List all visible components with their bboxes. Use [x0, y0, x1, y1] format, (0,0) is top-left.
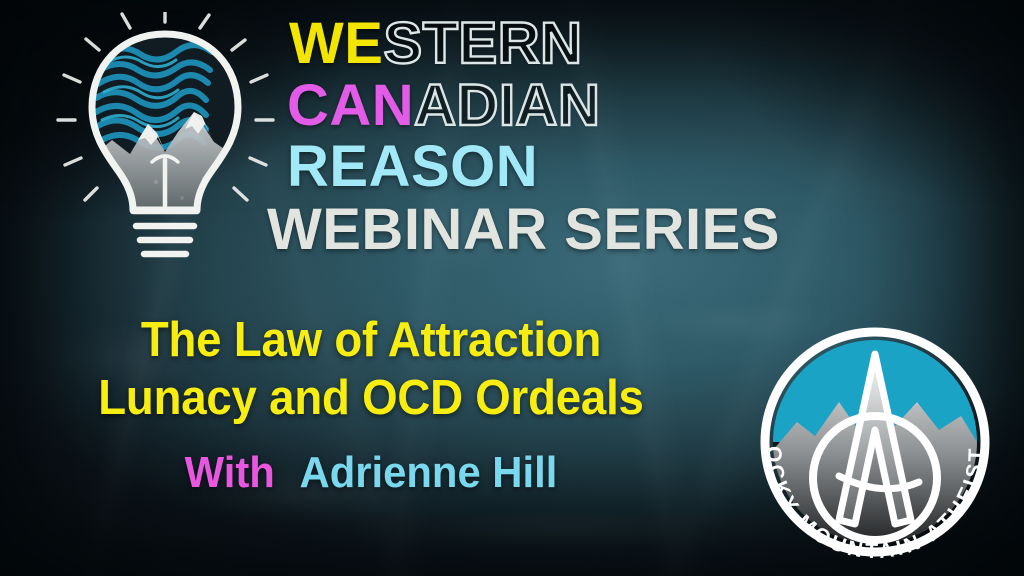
wordmark-line-canadian: CANADIAN	[287, 78, 947, 134]
wordmark-accent-can: CAN	[287, 73, 414, 138]
wordmark-line-western: WESTERN	[289, 16, 947, 72]
bulb-base	[133, 211, 197, 254]
presenter-line: WithAdrienne Hill	[19, 448, 724, 498]
wordmark-line-webinar-series: WEBINAR SERIES	[267, 202, 947, 258]
series-wordmark: WESTERN CANADIAN REASON WEBINAR SERIES	[287, 16, 947, 258]
wordmark-rest-stern: STERN	[383, 11, 582, 76]
wordmark-rest-adian: ADIAN	[414, 73, 600, 138]
webinar-promo-poster: WESTERN CANADIAN REASON WEBINAR SERIES T…	[0, 0, 1024, 576]
wordmark-line-reason: REASON	[287, 139, 947, 195]
lightbulb-mountain-chalk-icon	[52, 12, 278, 270]
talk-title-line-2: Lunacy and OCD Ordeals	[26, 370, 716, 428]
wordmark-accent-reason: REASON	[287, 134, 538, 199]
presenter-with-label: With	[185, 448, 275, 497]
wordmark-webinar-series: WEBINAR SERIES	[267, 197, 780, 262]
rocky-mountain-atheists-logo: ROCKY MOUNTAIN ATHEISTS	[735, 310, 1015, 576]
talk-title-line-1: The Law of Attraction	[26, 312, 716, 370]
wordmark-accent-we: WE	[289, 11, 383, 76]
talk-title-block: The Law of Attraction Lunacy and OCD Ord…	[0, 312, 742, 498]
presenter-name: Adrienne Hill	[300, 448, 558, 497]
